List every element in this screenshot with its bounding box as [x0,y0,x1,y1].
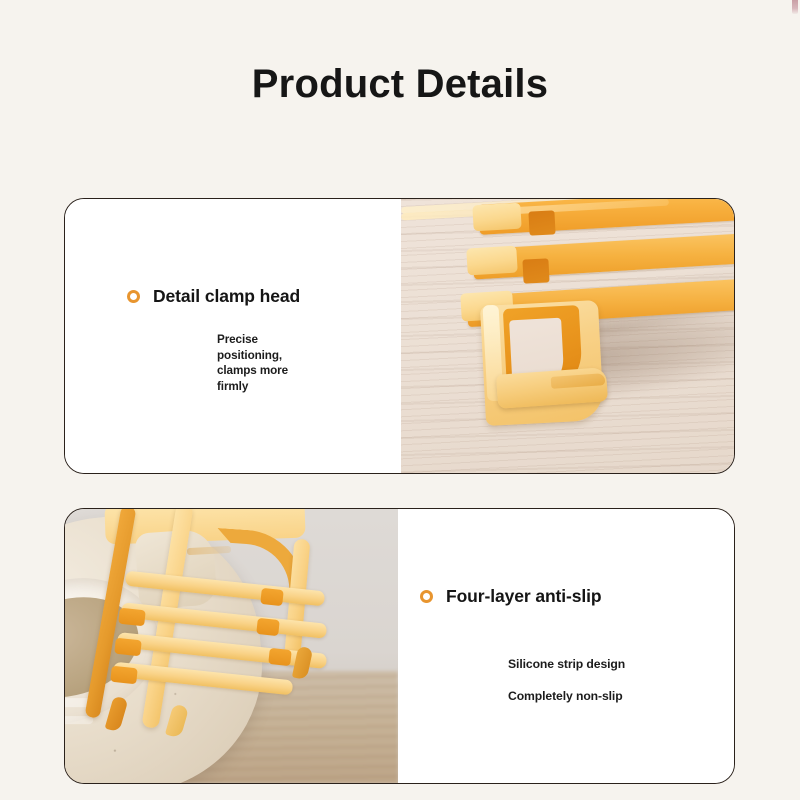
ring-bullet-icon [420,590,433,603]
body-line: positioning, [217,348,329,364]
card-text-pane: Four-layer anti-slip Silicone strip desi… [398,509,734,783]
card-heading: Detail clamp head [153,287,300,307]
card-body-block: Precise positioning, clamps more firmly [217,332,329,394]
silicone-strip-left-3 [110,666,138,685]
body-line: firmly [217,379,329,395]
product-detail-card-clamp-head: Detail clamp head Precise positioning, c… [64,198,735,474]
silicone-strip-left-1 [118,608,146,627]
silicone-strip-right-2 [256,618,280,636]
body-line: clamps more [217,363,329,379]
clamp-bar-cap-upper [472,203,521,232]
card-heading-row: Four-layer anti-slip [420,587,670,607]
silicone-strip-right-1 [260,588,284,606]
body-line: Completely non-slip [508,688,735,704]
silicone-strip-left-2 [114,638,142,657]
product-detail-card-anti-slip: Four-layer anti-slip Silicone strip desi… [64,508,735,784]
silicone-strip-right-3 [268,648,292,666]
bowl-band-secondary [65,716,93,724]
clamp-notch-lower [522,258,549,283]
scrollbar-fragment [792,0,798,14]
card-heading: Four-layer anti-slip [446,587,602,607]
clamp-bar-cap-middle [466,246,518,276]
body-line: Silicone strip design [508,656,735,672]
page-title: Product Details [0,62,800,107]
card-text-pane: Detail clamp head Precise positioning, c… [65,199,401,473]
ring-bullet-icon [127,290,140,303]
clamp-on-bowl-photo [65,509,398,783]
clamp-notch-upper [528,210,555,235]
body-line: Precise [217,332,329,348]
card-body-block: Silicone strip design Completely non-sli… [508,656,735,704]
card-heading-row: Detail clamp head [127,287,382,307]
clamp-head-on-wood-photo [401,199,734,473]
